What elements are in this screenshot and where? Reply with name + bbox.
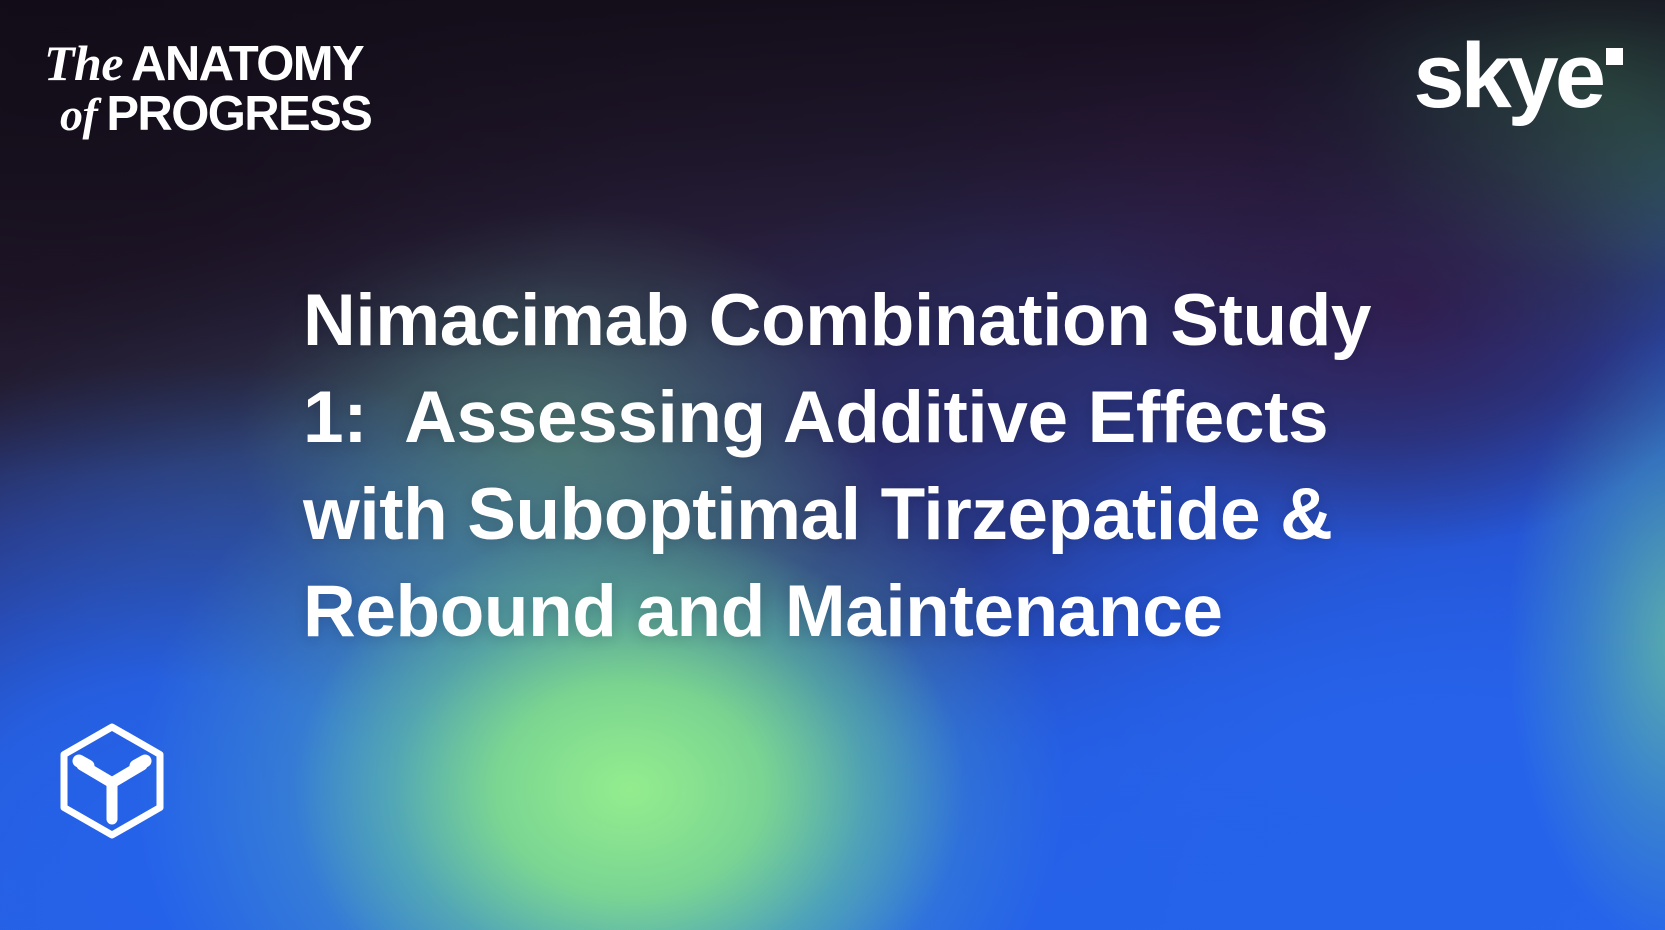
slide-title-line-1: Nimacimab Combination Study (303, 280, 1371, 361)
brand-logo-skye: skye (1413, 34, 1623, 119)
slide-title-line-3: with Suboptimal Tirzepatide & (303, 474, 1332, 555)
antibody-hexagon-icon (55, 722, 169, 840)
presentation-slide: The ANATOMY of PROGRESS skye Nimacimab C… (0, 0, 1665, 930)
brand-logo-square-dot-icon (1606, 48, 1623, 65)
series-logo-word-of: of (60, 92, 97, 138)
series-logo-word-the: The (44, 38, 123, 88)
series-logo-word-anatomy: ANATOMY (131, 40, 363, 89)
series-logo-line-1: The ANATOMY (44, 38, 371, 89)
brand-logo-wordmark: skye (1413, 34, 1602, 119)
series-logo-word-progress: PROGRESS (106, 90, 371, 139)
series-logo-line-2: of PROGRESS (44, 90, 371, 139)
slide-title-line-4: Rebound and Maintenance (303, 571, 1223, 652)
slide-title-line-2: 1: Assessing Additive Effects (303, 377, 1328, 458)
slide-title: Nimacimab Combination Study 1: Assessing… (303, 272, 1478, 660)
series-logo-anatomy-of-progress: The ANATOMY of PROGRESS (44, 38, 371, 139)
